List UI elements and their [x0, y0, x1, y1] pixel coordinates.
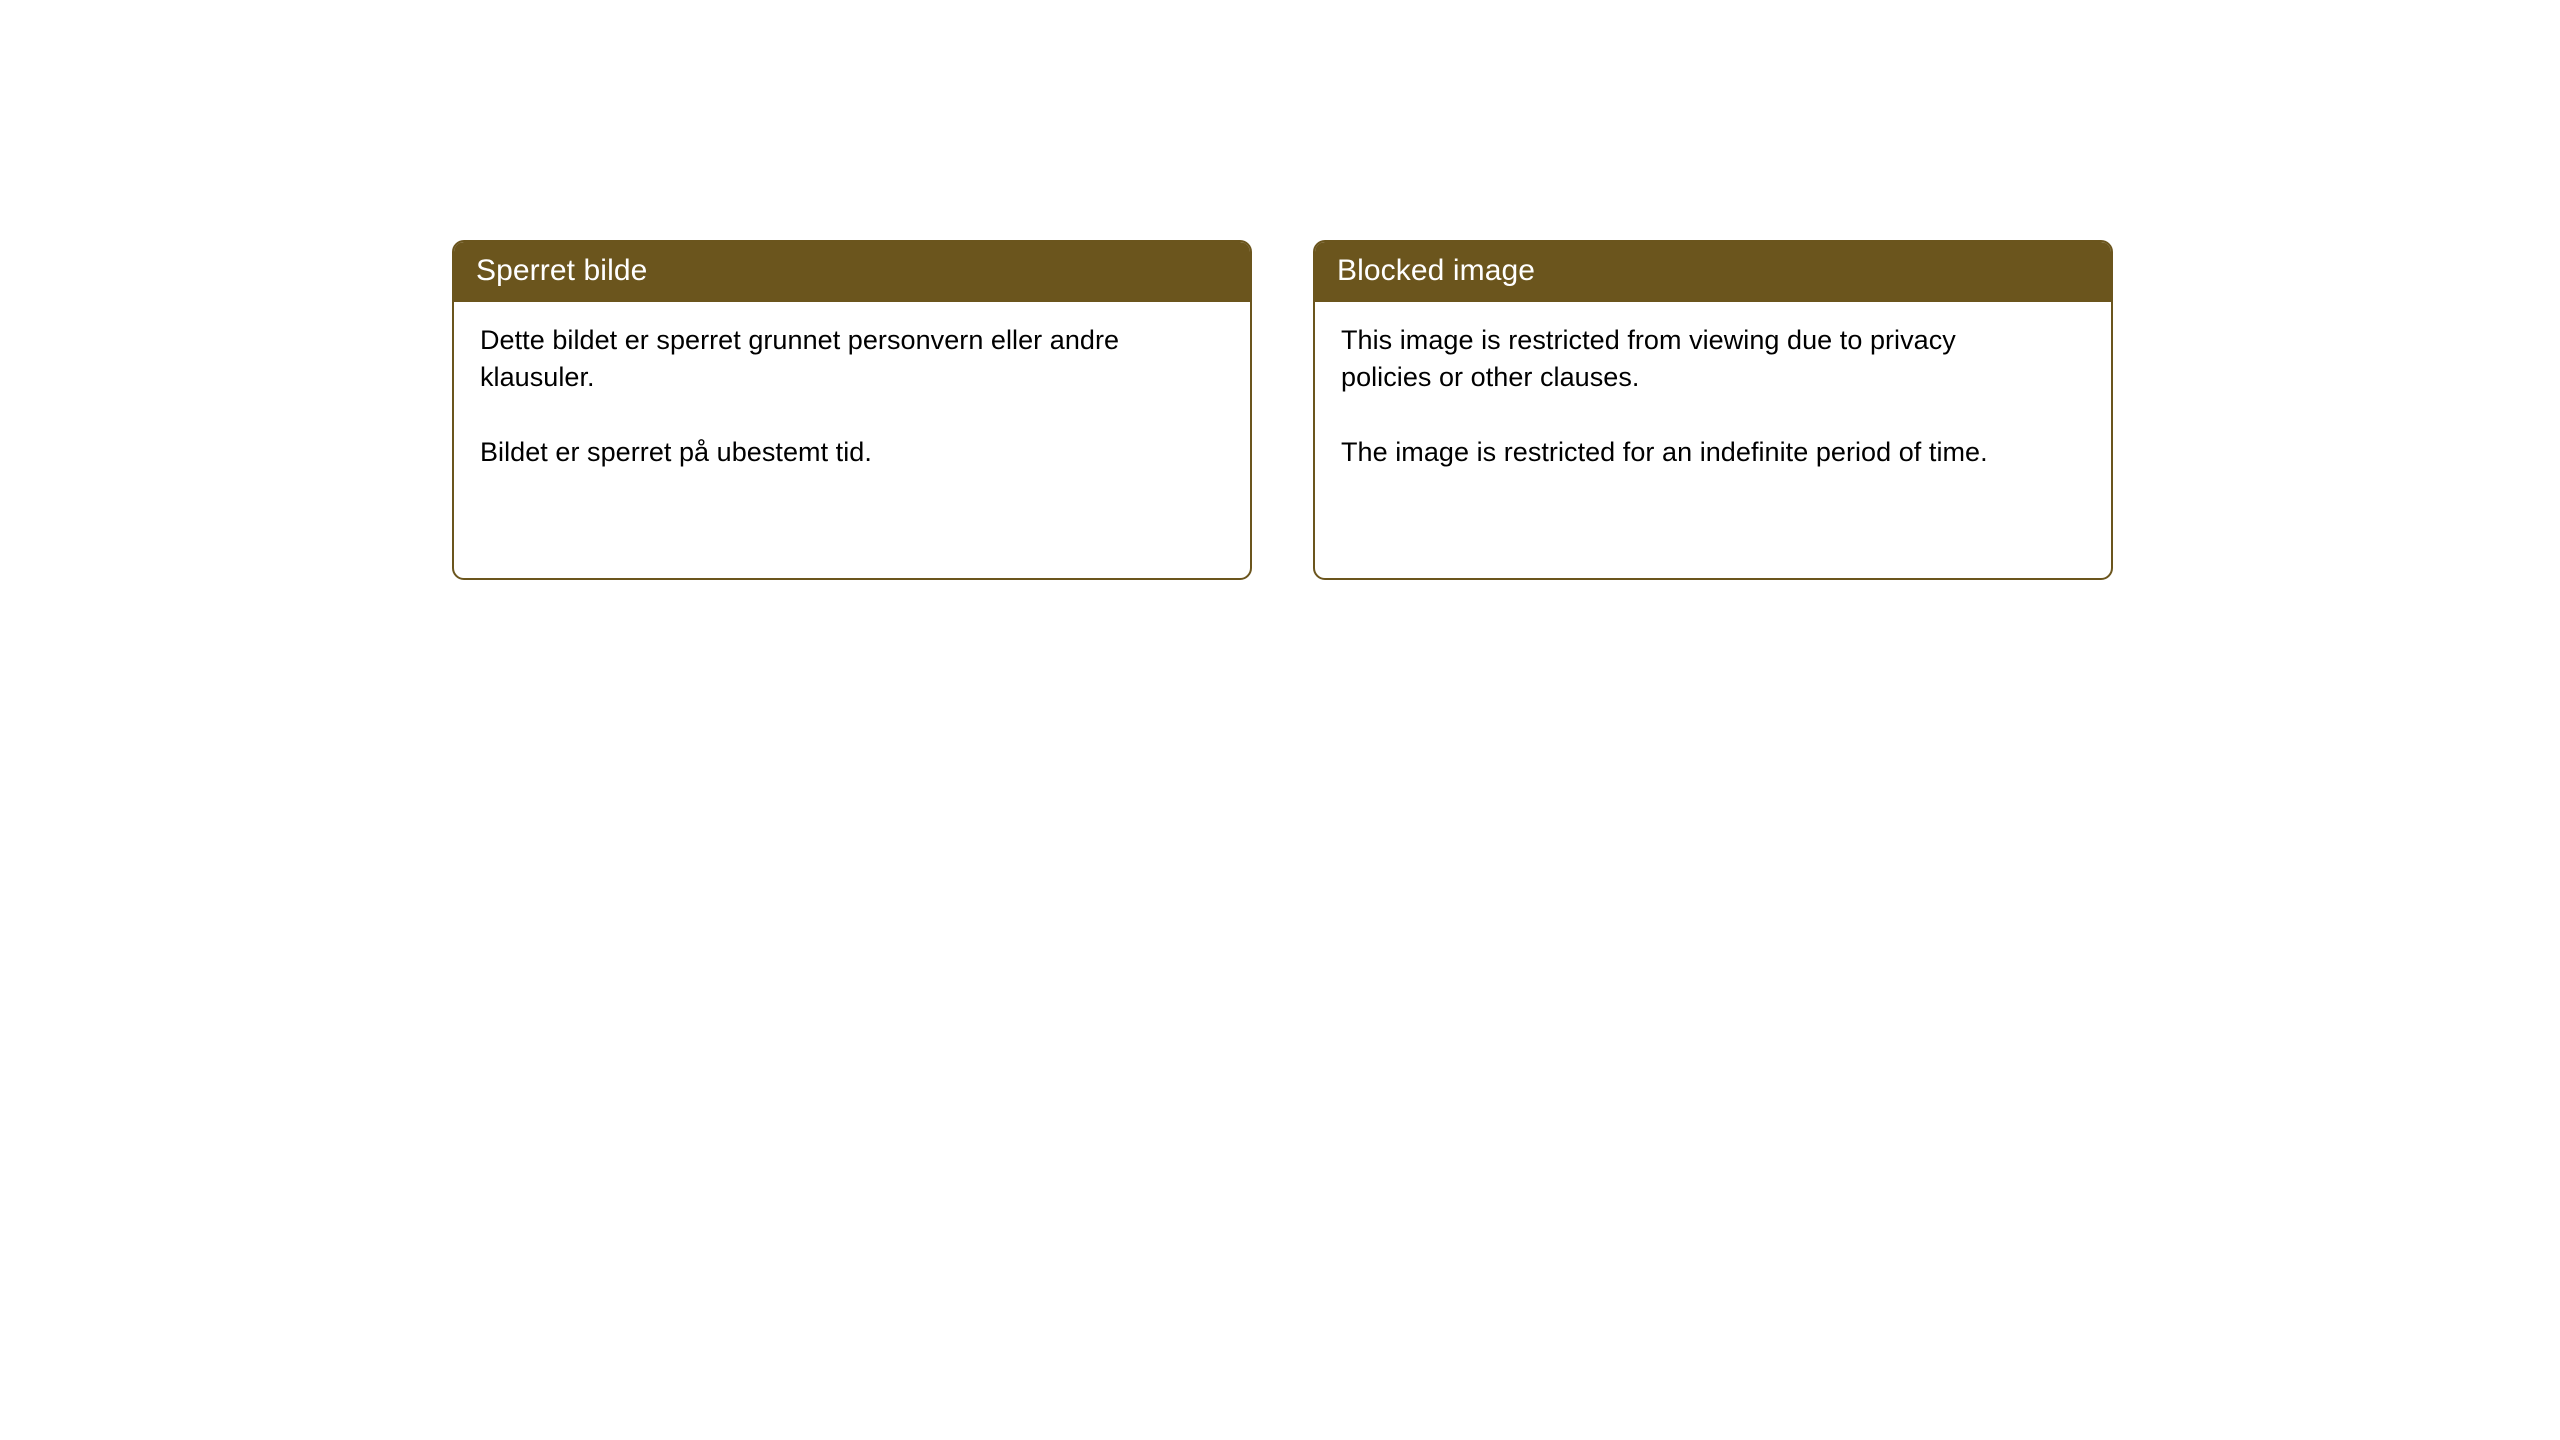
- card-header-bar-english: Blocked image: [1313, 240, 2113, 302]
- card-title-norwegian: Sperret bilde: [476, 256, 647, 286]
- blocked-image-notice-card-norwegian: Sperret bilde Dette bildet er sperret gr…: [452, 240, 1252, 580]
- card-paragraph-reason-norwegian: Dette bildet er sperret grunnet personve…: [480, 322, 1180, 396]
- blocked-image-notice-card-english: Blocked image This image is restricted f…: [1313, 240, 2113, 580]
- card-paragraph-reason-english: This image is restricted from viewing du…: [1341, 322, 2041, 396]
- card-header-bar-norwegian: Sperret bilde: [452, 240, 1252, 302]
- page-canvas: Sperret bilde Dette bildet er sperret gr…: [0, 0, 2560, 1440]
- card-body-english: This image is restricted from viewing du…: [1315, 302, 2111, 471]
- card-body-norwegian: Dette bildet er sperret grunnet personve…: [454, 302, 1250, 471]
- card-paragraph-duration-norwegian: Bildet er sperret på ubestemt tid.: [480, 434, 1180, 471]
- card-title-english: Blocked image: [1337, 256, 1535, 286]
- card-paragraph-duration-english: The image is restricted for an indefinit…: [1341, 434, 2041, 471]
